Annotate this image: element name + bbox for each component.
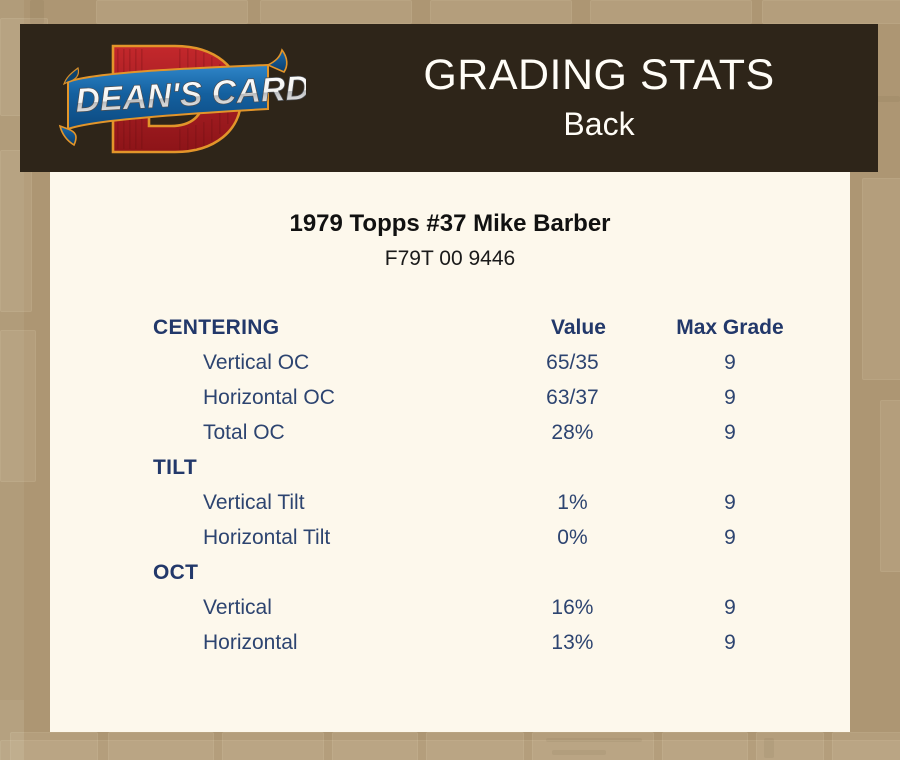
stat-value: 16% [500,596,657,631]
section-title: CENTERING [153,316,500,351]
stat-max-grade: 9 [657,596,803,631]
section-header-row: OCT [153,561,803,596]
stat-value: 28% [500,421,657,456]
table-row: Horizontal OC63/379 [153,386,803,421]
stat-value: 1% [500,491,657,526]
column-header-max-grade: Max Grade [657,316,803,351]
stat-label: Vertical [153,596,500,631]
section-title: OCT [153,561,500,596]
column-spacer [500,561,657,596]
column-spacer [500,456,657,491]
grading-stats-table: CENTERINGValueMax GradeVertical OC65/359… [153,316,803,666]
stat-max-grade: 9 [657,631,803,666]
stat-label: Total OC [153,421,500,456]
section-header-row: TILT [153,456,803,491]
stat-max-grade: 9 [657,491,803,526]
stat-label: Vertical Tilt [153,491,500,526]
card-serial-number: F79T 00 9446 [50,246,850,271]
stat-value: 65/35 [500,351,657,386]
table-row: Vertical Tilt1%9 [153,491,803,526]
stat-label: Horizontal [153,631,500,666]
table-row: Total OC28%9 [153,421,803,456]
column-spacer [657,561,803,596]
stat-max-grade: 9 [657,526,803,561]
table-row: Vertical OC65/359 [153,351,803,386]
column-spacer [657,456,803,491]
stat-label: Horizontal OC [153,386,500,421]
section-header-row: CENTERINGValueMax Grade [153,316,803,351]
page-title: GRADING STATS [423,53,774,98]
card-title: 1979 Topps #37 Mike Barber [50,210,850,239]
table-row: Horizontal13%9 [153,631,803,666]
stat-max-grade: 9 [657,351,803,386]
header-bar: DEAN'S CARDS GRADING STATS Back [20,24,878,172]
stat-max-grade: 9 [657,386,803,421]
table-row: Vertical16%9 [153,596,803,631]
page-subtitle: Back [563,105,634,143]
section-title: TILT [153,456,500,491]
stat-label: Horizontal Tilt [153,526,500,561]
stat-label: Vertical OC [153,351,500,386]
column-header-value: Value [500,316,657,351]
stat-value: 63/37 [500,386,657,421]
stat-max-grade: 9 [657,421,803,456]
card-title-area: 1979 Topps #37 Mike Barber F79T 00 9446 [50,210,850,271]
deans-cards-logo[interactable]: DEAN'S CARDS [56,28,306,170]
table-row: Horizontal Tilt0%9 [153,526,803,561]
header-title-block: GRADING STATS Back [320,24,878,172]
stat-value: 0% [500,526,657,561]
stat-value: 13% [500,631,657,666]
